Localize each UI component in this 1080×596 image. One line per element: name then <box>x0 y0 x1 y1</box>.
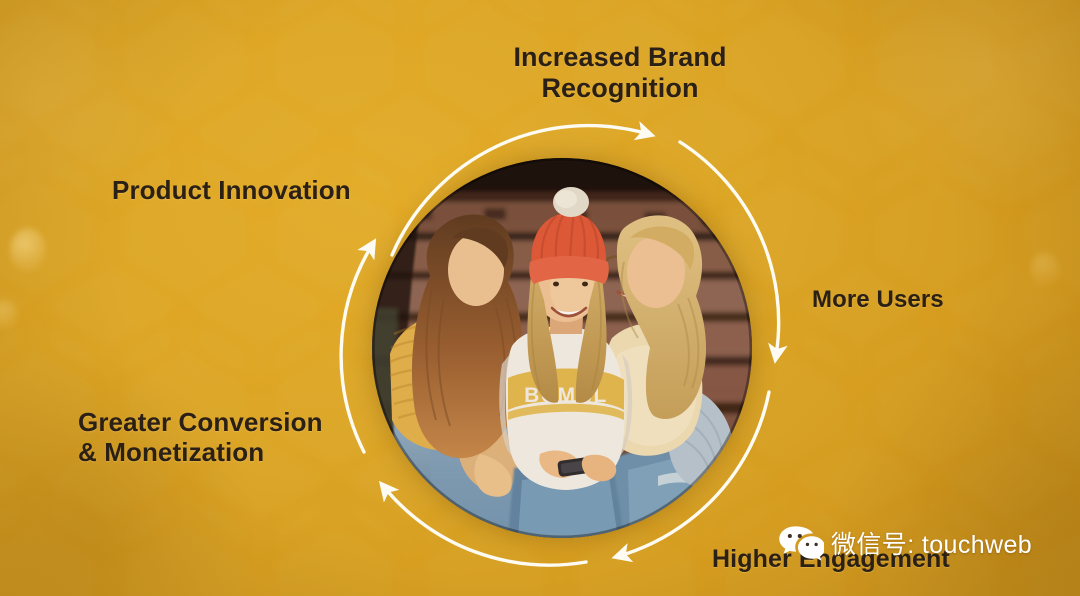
label-higher-engagement: Higher Engagement <box>712 545 1002 574</box>
center-photo: BUMBL <box>372 158 752 538</box>
bokeh-highlight <box>10 228 46 272</box>
bokeh-highlight <box>1030 252 1060 288</box>
label-product-innovation: Product Innovation <box>112 176 384 206</box>
label-greater-conversion-monetization: Greater Conversion & Monetization <box>78 408 378 467</box>
label-more-users: More Users <box>812 286 1042 313</box>
label-increased-brand-recognition: Increased Brand Recognition <box>480 42 760 104</box>
slide-canvas: BUMBL <box>0 0 1080 596</box>
